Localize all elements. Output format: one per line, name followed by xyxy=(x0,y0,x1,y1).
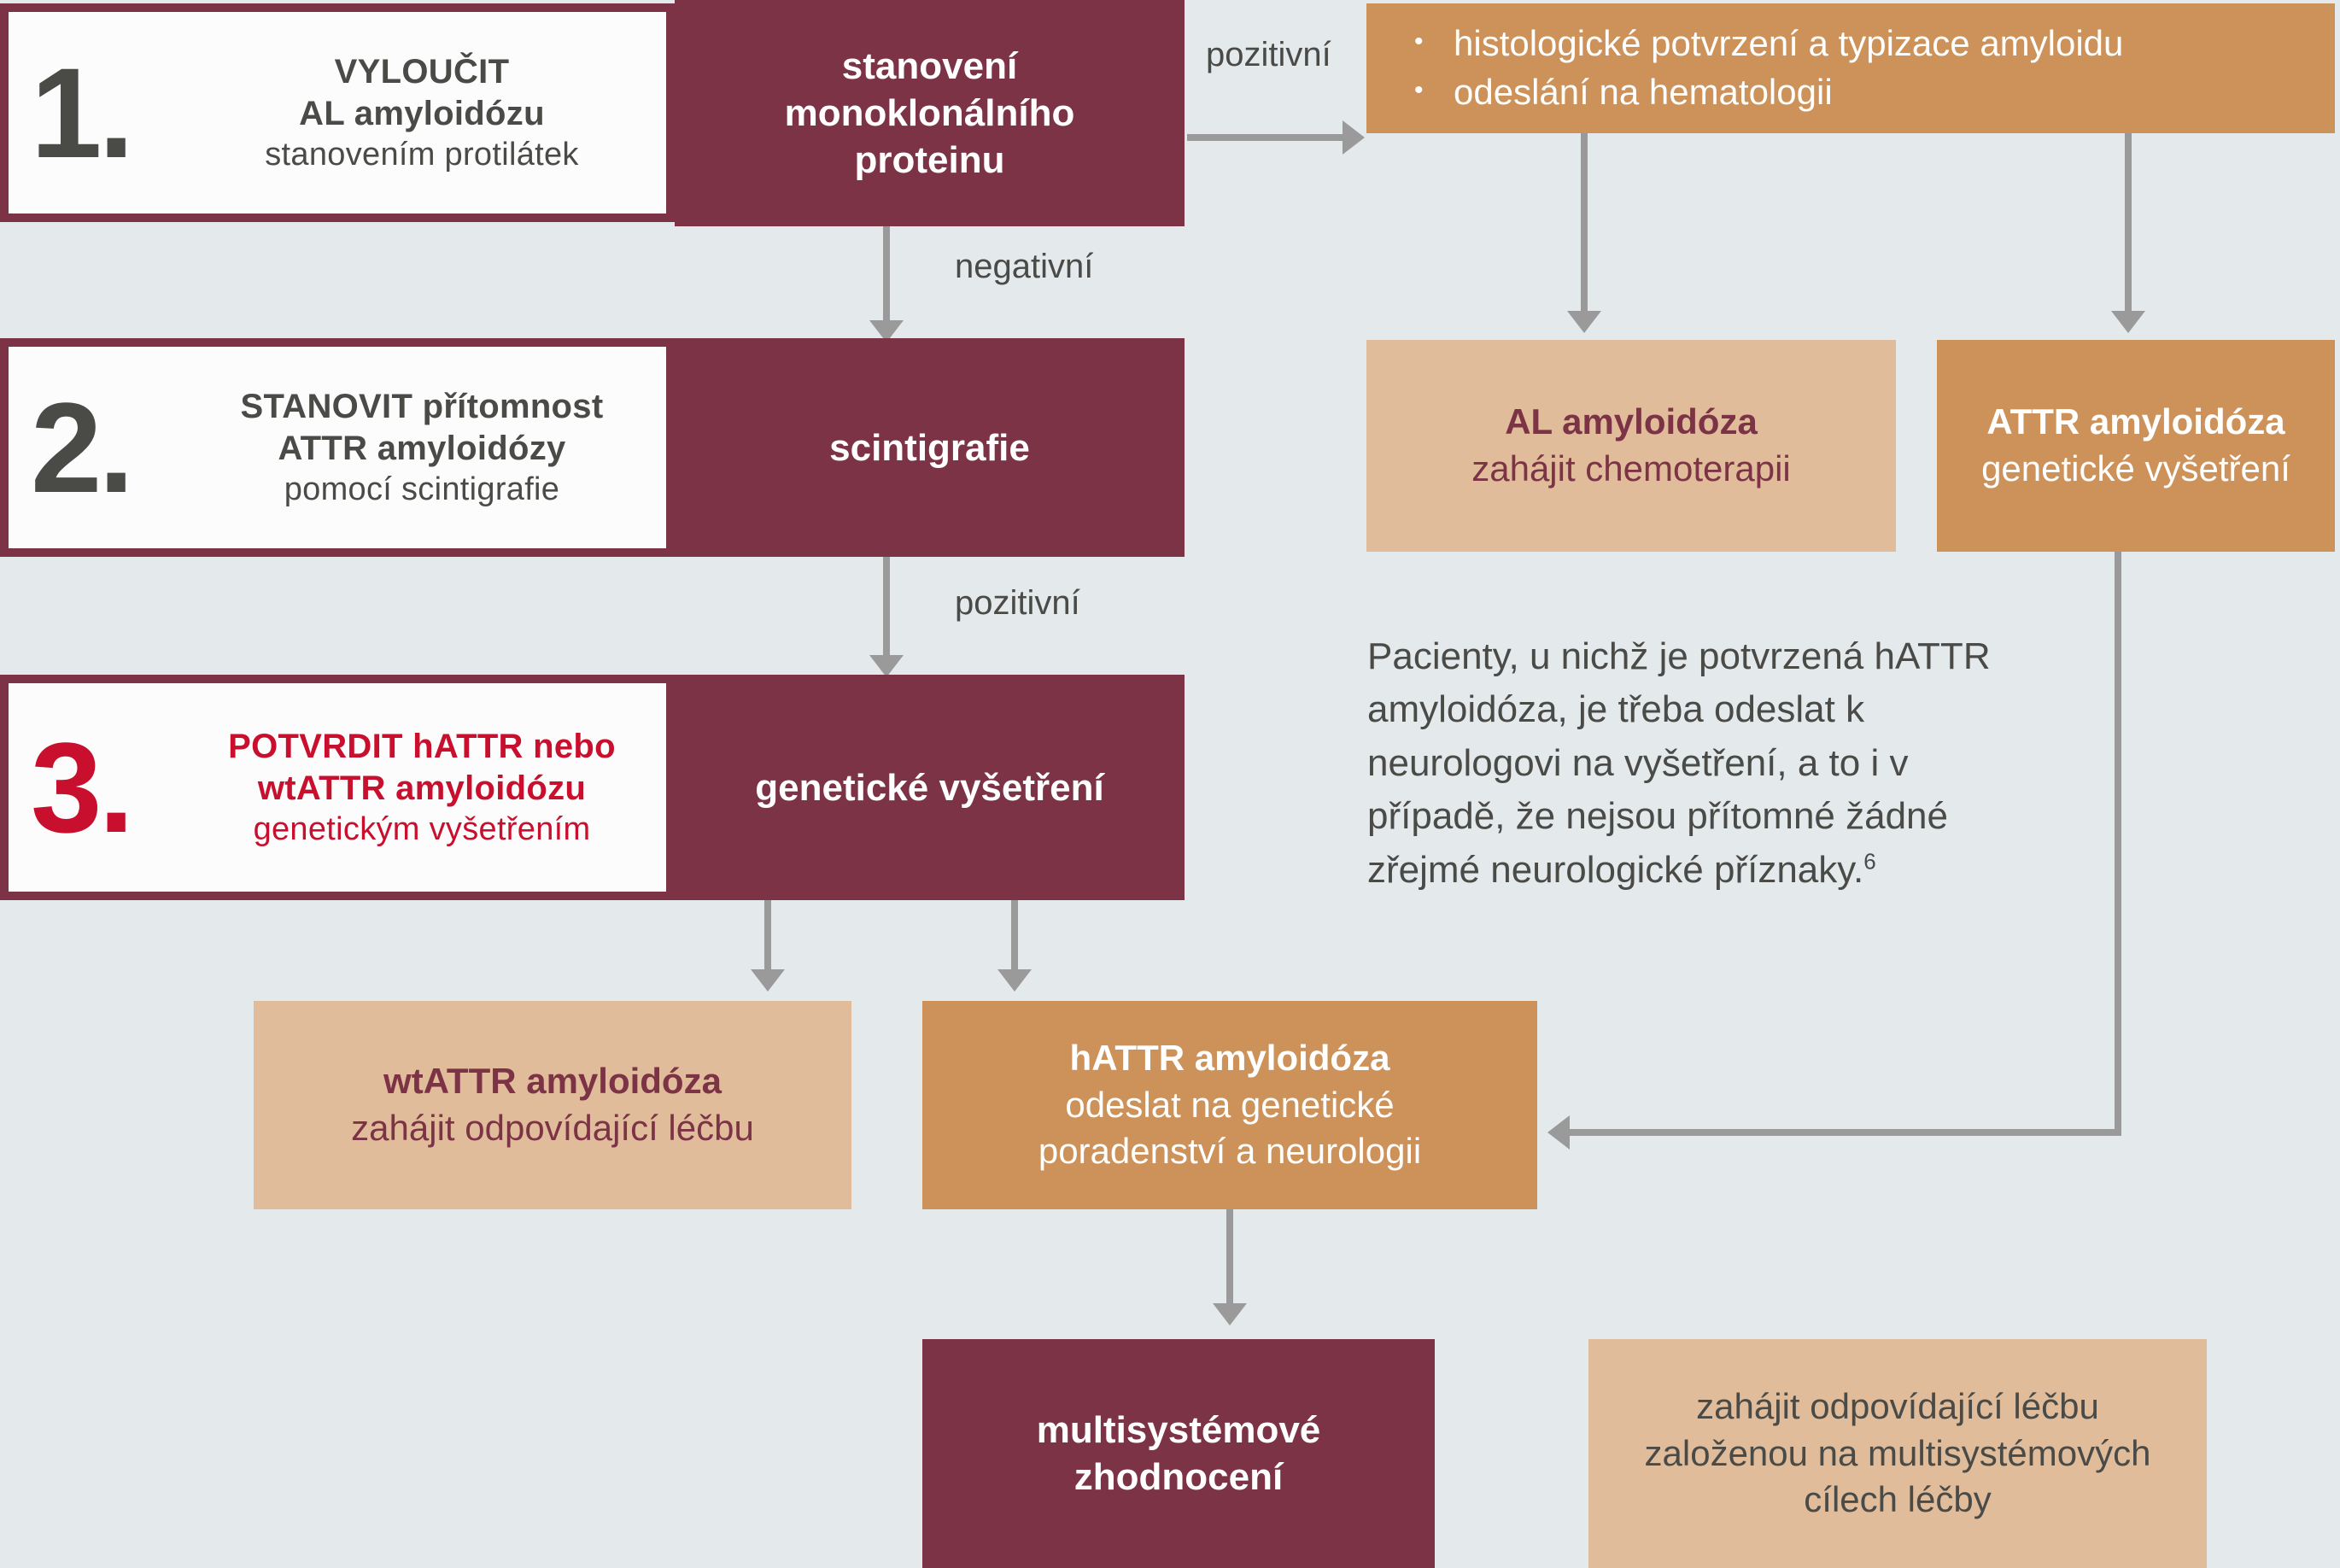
process-box-genetic-testing-label: genetické vyšetření xyxy=(755,764,1103,811)
step-card-2-inner: 2. STANOVIT přítomnost ATTR amyloidózy p… xyxy=(9,347,666,548)
connector-hematology-to-al xyxy=(1581,133,1588,314)
connector-genetic-to-hattr xyxy=(1011,900,1018,974)
step-text-1: VYLOUČIT AL amyloidózu stanovením protil… xyxy=(193,53,651,173)
step-text-3: POTVRDIT hATTR nebo wtATTR amyloidózu ge… xyxy=(193,728,651,848)
treatment-line-1: zahájit odpovídající léčbu xyxy=(1696,1384,2099,1431)
outcome-al-subtitle: zahájit chemoterapii xyxy=(1471,446,1791,493)
process-box-genetic-testing: genetické vyšetření xyxy=(675,675,1185,900)
step-2-line3: pomocí scintigrafie xyxy=(284,471,560,508)
hematology-bullet-1-label: histologické potvrzení a typizace amyloi… xyxy=(1454,20,2123,68)
arrowhead-down-icon xyxy=(1567,311,1601,333)
connector-monoclonal-to-hematology xyxy=(1187,134,1344,141)
process-box-monoclonal-protein: stanovení monoklonálního proteinu xyxy=(675,0,1185,226)
step-number-3: 3. xyxy=(31,736,193,839)
connector-attr-to-hattr-vertical xyxy=(2115,552,2121,1136)
connector-monoclonal-to-scintigraphy xyxy=(883,226,890,325)
process-box-multisystem-evaluation-label: multisystémové zhodnocení xyxy=(948,1407,1409,1501)
step-2-line2: ATTR amyloidózy xyxy=(278,430,565,468)
hematology-bullet-1: • histologické potvrzení a typizace amyl… xyxy=(1414,20,2123,68)
step-card-1-inner: 1. VYLOUČIT AL amyloidózu stanovením pro… xyxy=(9,12,666,214)
outcome-al-title: AL amyloidóza xyxy=(1505,399,1758,446)
outcome-box-al-amyloidosis: AL amyloidóza zahájit chemoterapii xyxy=(1366,340,1896,552)
process-box-scintigraphy: scintigrafie xyxy=(675,338,1185,557)
step-card-3-inner: 3. POTVRDIT hATTR nebo wtATTR amyloidózu… xyxy=(9,683,666,892)
outcome-box-wtattr-amyloidosis: wtATTR amyloidóza zahájit odpovídající l… xyxy=(254,1001,851,1209)
hematology-bullet-2: • odeslání na hematologii xyxy=(1414,68,1833,117)
hematology-bullet-2-label: odeslání na hematologii xyxy=(1454,68,1833,117)
connector-attr-to-hattr-horizontal xyxy=(1570,1129,2121,1136)
step-2-line1: STANOVIT přítomnost xyxy=(241,388,604,426)
bullet-icon: • xyxy=(1414,20,1454,63)
step-1-line2: AL amyloidózu xyxy=(299,95,545,133)
outcome-wtattr-subtitle: zahájit odpovídající léčbu xyxy=(351,1105,754,1152)
outcome-wtattr-title: wtATTR amyloidóza xyxy=(383,1058,722,1105)
step-card-1: 1. VYLOUČIT AL amyloidózu stanovením pro… xyxy=(0,3,675,222)
arrowhead-down-icon xyxy=(2111,311,2145,333)
arrowhead-down-icon xyxy=(997,969,1032,992)
outcome-hattr-title: hATTR amyloidóza xyxy=(1070,1035,1390,1082)
edge-label-positive-top: pozitivní xyxy=(1206,36,1331,74)
process-box-multisystem-evaluation: multisystémové zhodnocení xyxy=(922,1339,1435,1568)
step-number-2: 2. xyxy=(31,396,193,499)
step-card-2: 2. STANOVIT přítomnost ATTR amyloidózy p… xyxy=(0,338,675,557)
step-1-line3: stanovením protilátek xyxy=(265,137,579,173)
connector-hattr-to-multisystem xyxy=(1226,1209,1233,1308)
step-3-line2: wtATTR amyloidózu xyxy=(258,769,586,808)
step-3-line3: genetickým vyšetřením xyxy=(254,811,591,848)
step-text-2: STANOVIT přítomnost ATTR amyloidózy pomo… xyxy=(193,388,651,508)
flowchart-canvas: 1. VYLOUČIT AL amyloidózu stanovením pro… xyxy=(0,0,2340,1568)
treatment-line-3: cílech léčby xyxy=(1804,1477,1991,1524)
clinical-note-text: Pacienty, u nichž je potvrzená hATTR amy… xyxy=(1367,635,1991,891)
connector-genetic-to-wtattr xyxy=(764,900,771,974)
edge-label-negative: negativní xyxy=(955,248,1093,286)
outcome-attr-subtitle: genetické vyšetření xyxy=(1981,446,2290,493)
arrowhead-down-icon xyxy=(751,969,785,992)
arrowhead-down-icon xyxy=(1213,1303,1247,1325)
step-number-1: 1. xyxy=(31,61,193,164)
hematology-actions-box: • histologické potvrzení a typizace amyl… xyxy=(1366,3,2335,133)
outcome-box-attr-amyloidosis: ATTR amyloidóza genetické vyšetření xyxy=(1937,340,2335,552)
connector-hematology-to-attr xyxy=(2125,133,2132,314)
outcome-box-hattr-amyloidosis: hATTR amyloidóza odeslat na genetické po… xyxy=(922,1001,1537,1209)
step-3-line1: POTVRDIT hATTR nebo xyxy=(228,728,616,766)
process-box-scintigraphy-label: scintigrafie xyxy=(829,424,1030,471)
process-box-monoclonal-protein-label: stanovení monoklonálního proteinu xyxy=(709,43,1150,184)
treatment-goals-box: zahájit odpovídající léčbu založenou na … xyxy=(1588,1339,2207,1568)
step-card-3: 3. POTVRDIT hATTR nebo wtATTR amyloidózu… xyxy=(0,675,675,900)
clinical-note-paragraph: Pacienty, u nichž je potvrzená hATTR amy… xyxy=(1367,630,1991,897)
edge-label-positive-mid: pozitivní xyxy=(955,584,1080,623)
outcome-hattr-subtitle-2: poradenství a neurologii xyxy=(1038,1128,1421,1175)
arrowhead-right-icon xyxy=(1343,120,1365,155)
outcome-attr-title: ATTR amyloidóza xyxy=(1986,399,2284,446)
clinical-note-reference: 6 xyxy=(1863,848,1875,874)
connector-scintigraphy-to-genetic-testing xyxy=(883,557,890,659)
treatment-line-2: založenou na multisystémových xyxy=(1645,1431,2151,1477)
step-1-line1: VYLOUČIT xyxy=(335,53,510,91)
bullet-icon: • xyxy=(1414,68,1454,112)
arrowhead-left-icon xyxy=(1547,1115,1570,1150)
outcome-hattr-subtitle-1: odeslat na genetické xyxy=(1065,1082,1394,1129)
